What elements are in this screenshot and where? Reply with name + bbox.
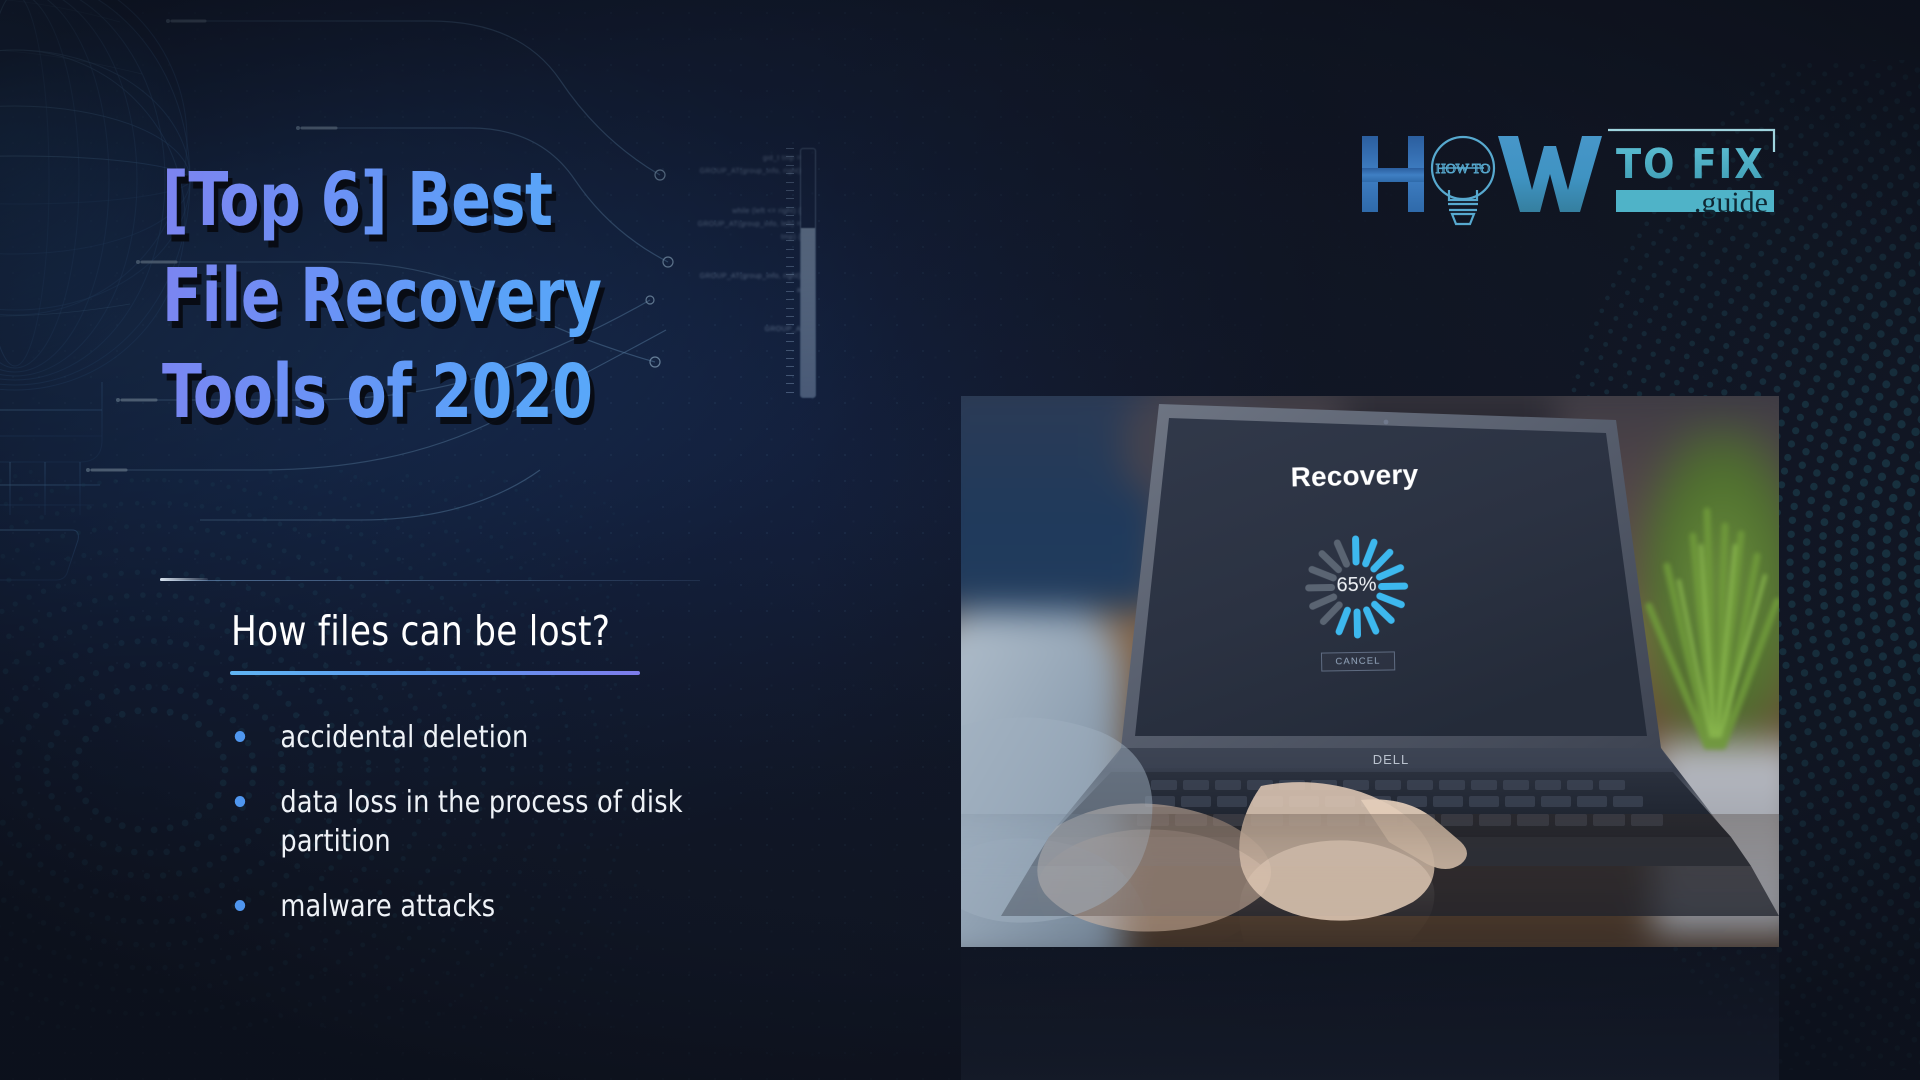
- bullet-dot-icon: [235, 796, 245, 807]
- progress-percent-label: 65%: [1295, 573, 1417, 598]
- slide-canvas: gid_t tmp = GROUP_AT(group_info, right) …: [0, 0, 1920, 1080]
- list-item-label: data loss in the process of disk partiti…: [280, 785, 682, 859]
- recovery-app-window: Recovery 65% CANCEL: [1172, 429, 1543, 688]
- list-item: data loss in the process of disk partiti…: [230, 783, 724, 861]
- logo-to-fix-text: TO FIX: [1616, 140, 1765, 188]
- bullet-dot-icon: [235, 731, 245, 742]
- progress-spinner: 65%: [1295, 525, 1419, 649]
- cancel-button[interactable]: CANCEL: [1321, 651, 1395, 671]
- title-divider: [160, 580, 700, 581]
- title-line-1: [Top 6] Best: [162, 152, 743, 248]
- page-title: [Top 6] Best File Recovery Tools of 2020: [162, 152, 743, 441]
- section-subtitle: How files can be lost?: [231, 607, 610, 655]
- list-item: accidental deletion: [230, 718, 724, 757]
- title-divider-dash: [160, 578, 208, 581]
- logo-bulb-text: HOW TO: [1436, 162, 1491, 177]
- list-item-label: accidental deletion: [280, 720, 528, 755]
- dell-brand-text: DELL: [1373, 752, 1410, 767]
- list-item-label: malware attacks: [280, 889, 495, 924]
- title-line-2: File Recovery: [162, 248, 743, 344]
- bullet-dot-icon: [235, 900, 245, 911]
- recovery-title: Recovery: [1173, 456, 1539, 497]
- list-item: malware attacks: [230, 887, 724, 926]
- title-line-3: Tools of 2020: [162, 344, 743, 440]
- brand-logo[interactable]: HOW TO TO FIX .guide: [1358, 118, 1778, 230]
- logo-guide-text: .guide: [1694, 186, 1768, 219]
- photo-reflection: DELL: [961, 814, 1779, 947]
- bullet-list: accidental deletion data loss in the pro…: [230, 718, 750, 952]
- subtitle-underline: [230, 671, 640, 675]
